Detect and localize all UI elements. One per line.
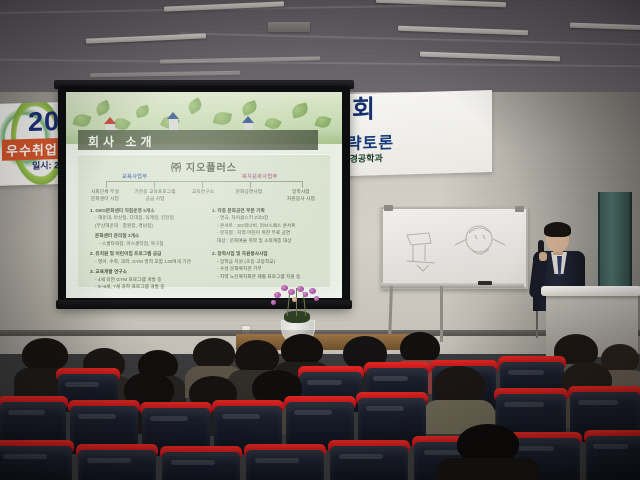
lecture-hall-photo: 200 수회 우수취업 공 전략토론 일시: 2009. 대학교 환경공학과 [0,0,640,480]
orchid-bloom [281,285,288,291]
presenter-hair [544,222,571,237]
auditorium-seat [162,446,240,480]
slide-company-name: ㈜ 지오플러스 [78,159,330,174]
slide-right-column: 1. 각종 문화공연 부문 기획 - 연극, 차이콥스키 2막3장 - 콘서트 … [212,207,326,280]
auditorium-seat [330,440,408,480]
slide-body: ㈜ 지오플러스 교육사업부 복지문화사업부 사회단체 부설 문화센터 사업 기관… [78,154,330,287]
auditorium-seat [586,430,640,480]
projected-slide: 회사 소개 ㈜ 지오플러스 교육사업부 복지문화사업부 사회단체 부설 문화센터… [66,92,342,298]
audience-person [426,366,492,428]
orchid-bloom [271,300,276,305]
ceiling-light [398,26,528,36]
slide-org-node: 기관용 교육프로그램 공급 사업 [130,189,180,203]
ceiling-light [86,33,206,43]
orchid-bloom [297,286,304,292]
whiteboard [381,207,528,289]
orchid-bloom [292,297,297,302]
slide-left-column: 1. GEO문화센터 직접운영 5개소 - 해운대, 마산점, 다대점, 옥계점… [90,207,202,290]
whiteboard-tray [381,283,524,288]
ceiling-light [420,52,560,62]
slide-org-label-right: 복지문화사업부 [242,173,278,180]
orchid-bloom [314,296,319,301]
auditorium-seat [246,444,324,480]
whiteboard-sketch-icon [383,209,526,287]
whiteboard-clip [384,205,393,211]
auditorium-seat [0,440,72,480]
slide-org-node: 문화공연사업 [226,189,272,196]
orchid-bloom [309,288,316,294]
slide-org-node: 사회단체 부설 문화센터 사업 [82,189,128,203]
screen-bottom-bar [56,300,352,309]
ceiling-light [570,23,640,31]
orchid-bloom [288,289,295,295]
auditorium-seat [78,444,156,480]
whiteboard-marker [478,281,492,285]
audience-person [440,424,536,480]
slide-org-node: 장학사업 자원봉사 사업 [276,189,326,203]
ceiling-light [90,71,240,78]
slide-org-node: 교육연구소 [182,189,224,196]
podium-top [541,286,640,296]
orchid-bloom [303,292,308,297]
whiteboard-clip [515,206,524,212]
slide-org-label-left: 교육사업부 [122,173,148,180]
orchid-bloom [274,292,281,298]
slide-title: 회사 소개 [88,133,156,150]
presenter-hand [539,252,547,261]
ceiling-vent [268,22,310,32]
